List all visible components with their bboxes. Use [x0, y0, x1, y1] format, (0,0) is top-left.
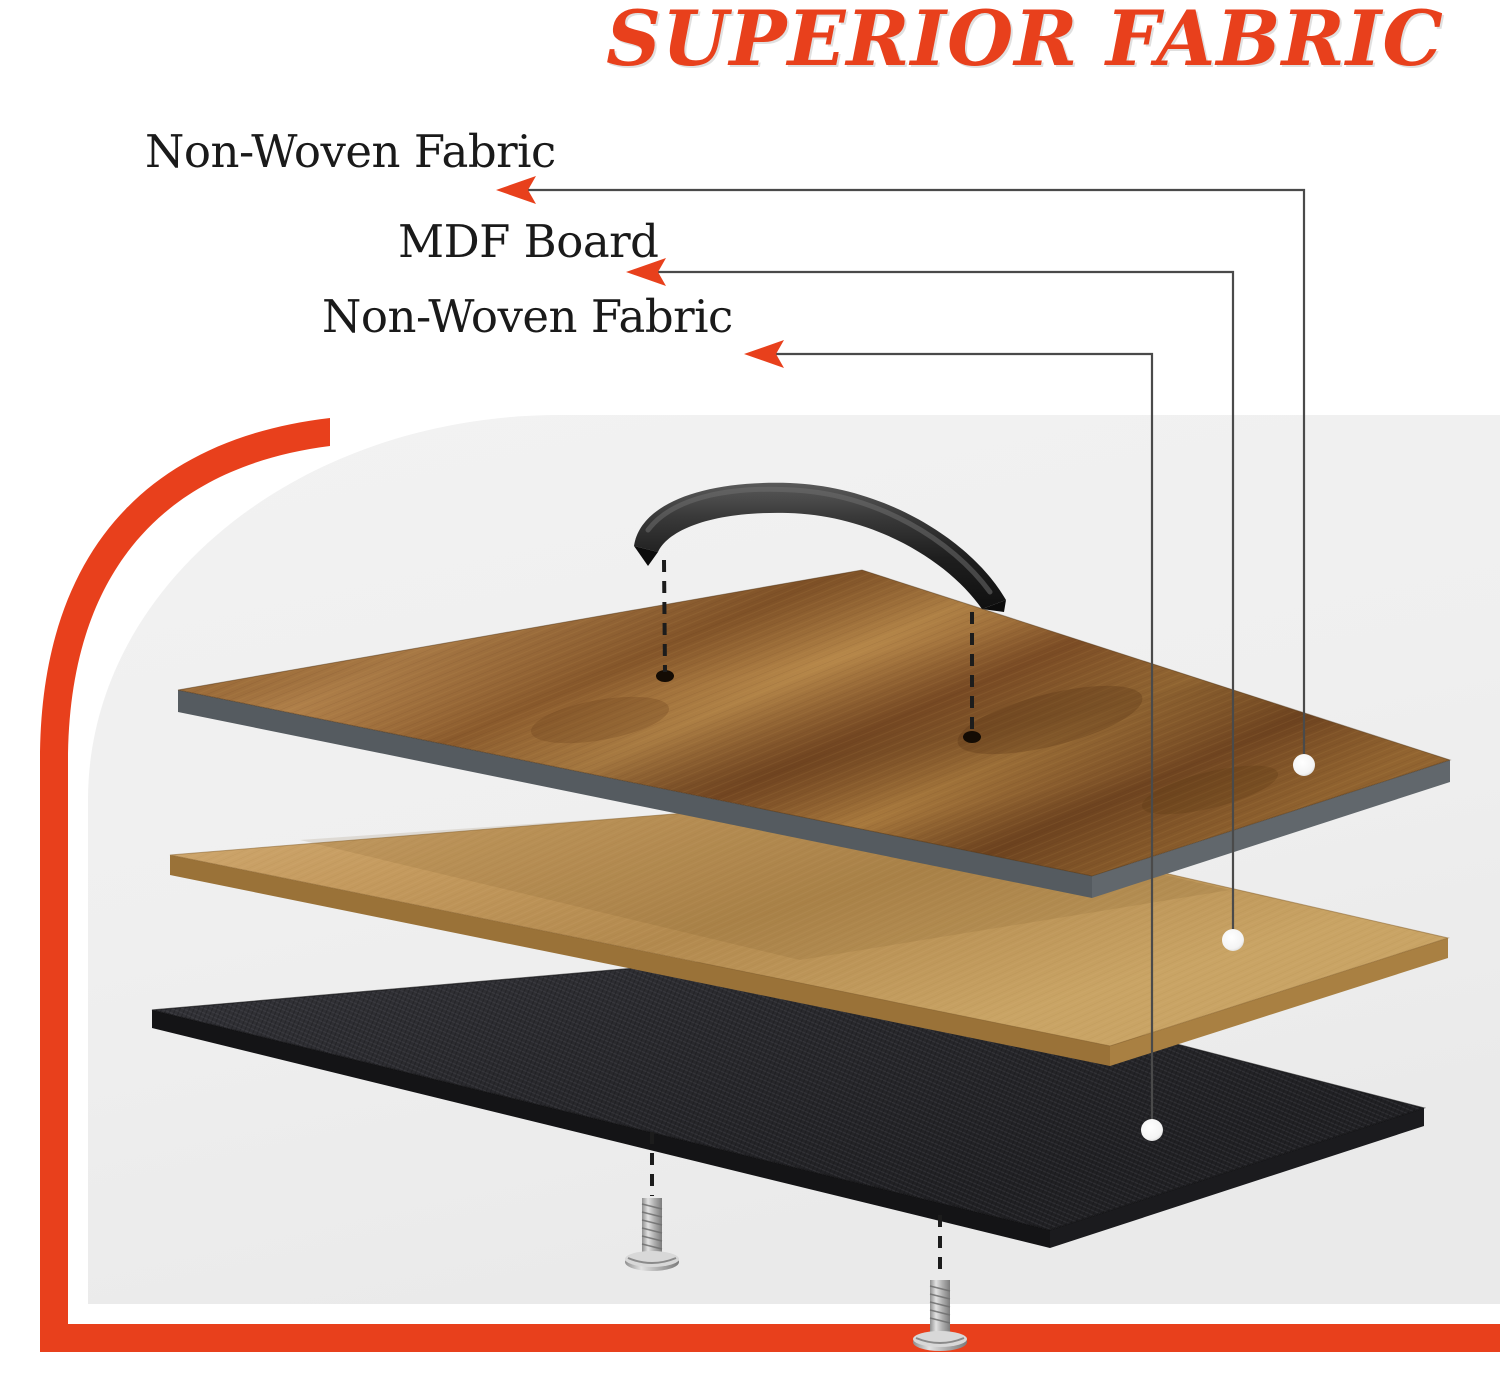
infographic-canvas: SUPERIOR FABRIC Non-Woven Fabric MDF Boa…: [0, 0, 1500, 1400]
callout-label-non-woven-fabric-bottom: Non-Woven Fabric: [322, 290, 733, 343]
callout-label-mdf-board: MDF Board: [398, 215, 659, 268]
page-title: SUPERIOR FABRIC: [560, 0, 1490, 83]
mounting-screw-left: [625, 1198, 679, 1271]
callout-label-non-woven-fabric-top: Non-Woven Fabric: [145, 125, 556, 178]
exploded-view-scene: [0, 0, 1500, 1400]
mounting-screw-right: [913, 1280, 967, 1351]
mounting-hole-right: [963, 731, 981, 743]
